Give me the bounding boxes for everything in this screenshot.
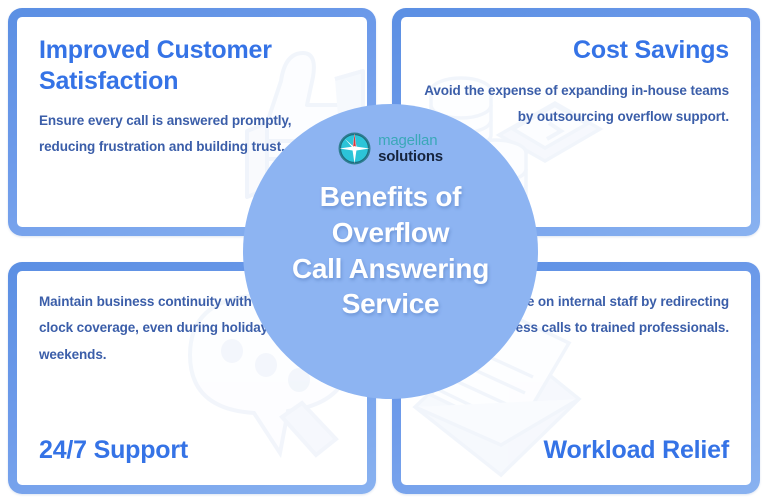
card-heading: Improved Customer Satisfaction	[39, 35, 345, 96]
brand-name-bottom: solutions	[378, 149, 443, 164]
brand-wordmark: magellan solutions	[378, 133, 443, 164]
card-heading: Workload Relief	[423, 435, 729, 466]
brand-name-top: magellan	[378, 133, 443, 148]
card-heading: 24/7 Support	[39, 435, 345, 466]
brand-logo[interactable]: magellan solutions	[338, 132, 443, 165]
card-heading: Cost Savings	[423, 35, 729, 66]
compass-rose-icon	[338, 132, 371, 165]
center-title: Benefits ofOverflowCall AnsweringService	[280, 179, 501, 322]
infographic-canvas: Improved Customer Satisfaction Ensure ev…	[0, 0, 768, 502]
center-hub: magellan solutions Benefits ofOverflowCa…	[243, 104, 538, 399]
card-body: Avoid the expense of expanding in-house …	[423, 78, 729, 131]
